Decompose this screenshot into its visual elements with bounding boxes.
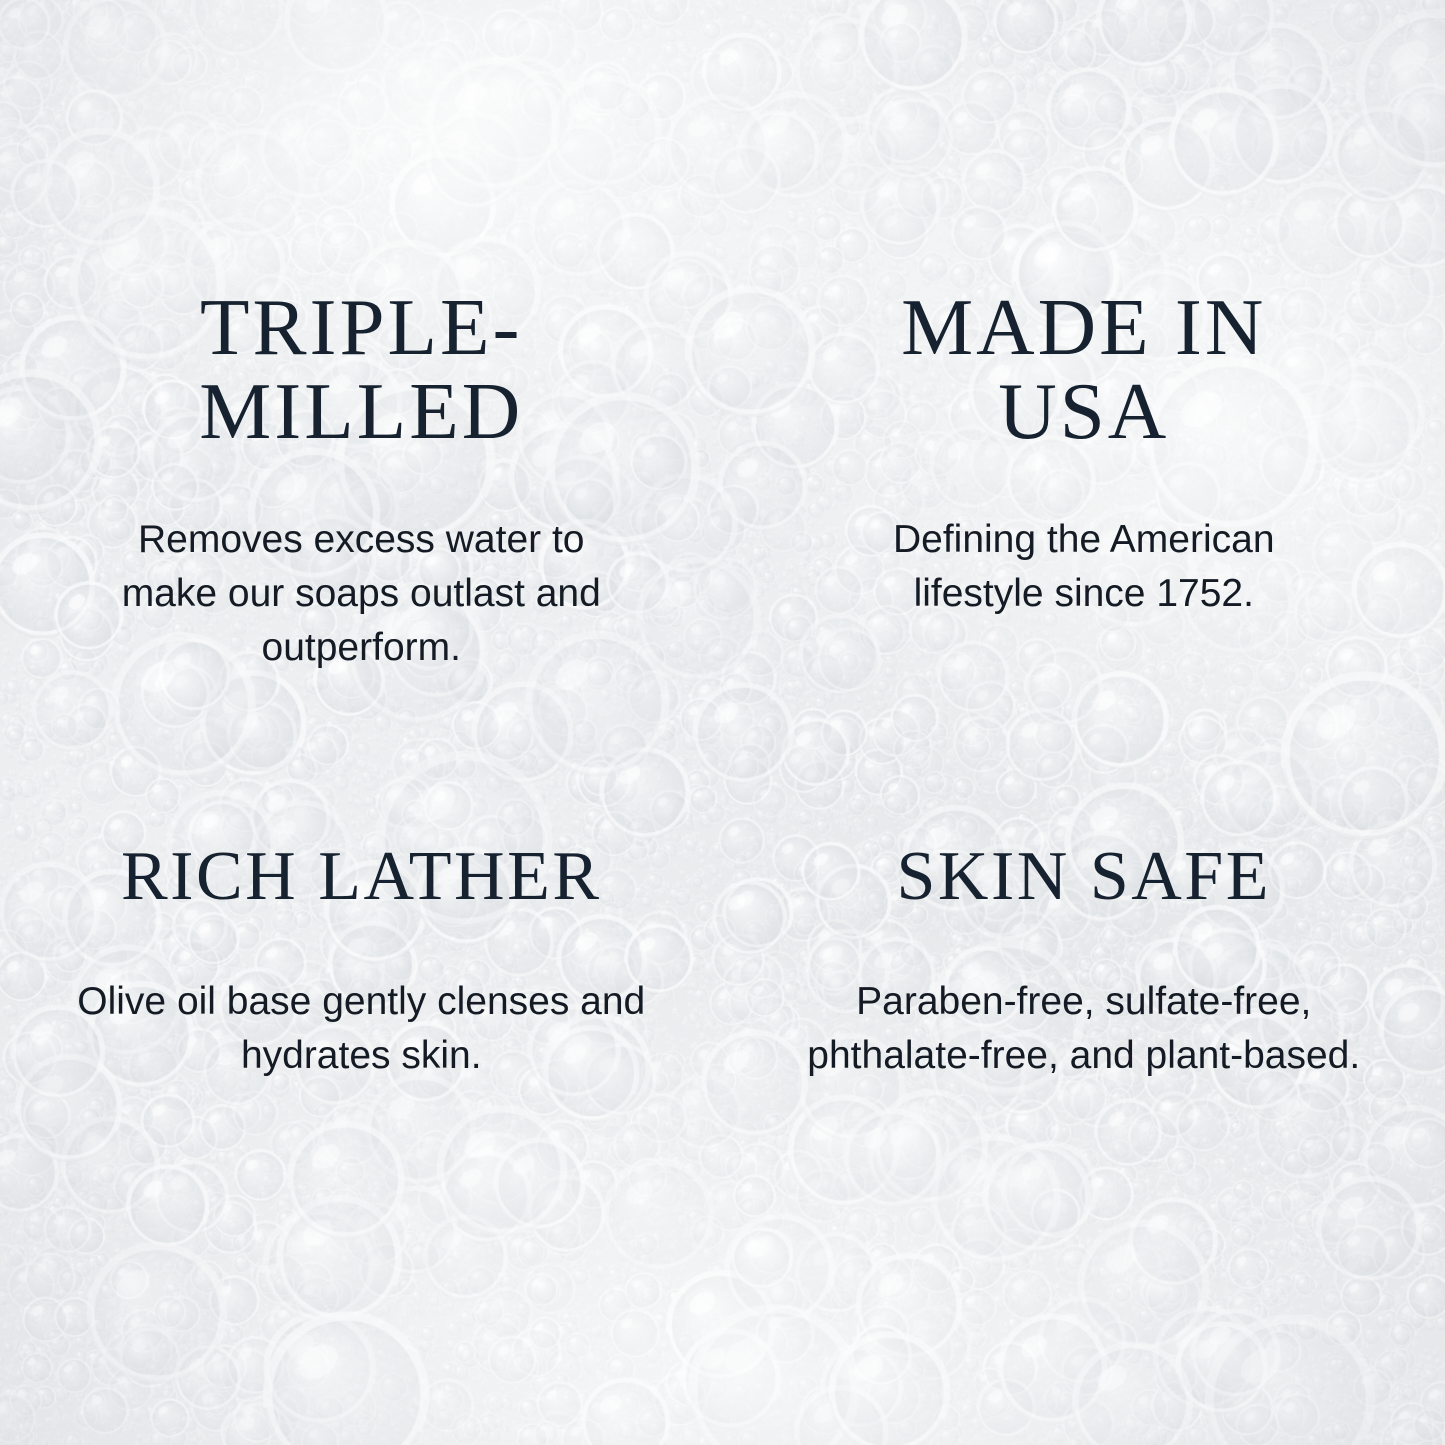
feature-description-rich-lather: Olive oil base gently clenses and hydrat… — [50, 975, 673, 1083]
feature-title-skin-safe: SKIN SAFE — [896, 841, 1271, 914]
feature-description-triple-milled: Removes excess water to make our soaps o… — [95, 513, 628, 674]
feature-card-made-in-usa: MADE IN USA Defining the American lifest… — [723, 0, 1445, 723]
feature-panel: TRIPLE-MILLED Removes excess water to ma… — [0, 0, 1445, 1445]
feature-title-rich-lather: RICH LATHER — [121, 841, 602, 914]
feature-description-made-in-usa: Defining the American lifestyle since 17… — [824, 513, 1344, 621]
feature-title-made-in-usa: MADE IN USA — [874, 285, 1294, 453]
feature-grid: TRIPLE-MILLED Removes excess water to ma… — [0, 0, 1445, 1445]
feature-card-rich-lather: RICH LATHER Olive oil base gently clense… — [0, 723, 723, 1445]
feature-description-skin-safe: Paraben-free, sulfate-free, phthalate-fr… — [794, 975, 1374, 1083]
feature-card-triple-milled: TRIPLE-MILLED Removes excess water to ma… — [0, 0, 723, 723]
feature-card-skin-safe: SKIN SAFE Paraben-free, sulfate-free, ph… — [723, 723, 1445, 1445]
feature-title-triple-milled: TRIPLE-MILLED — [151, 285, 571, 453]
